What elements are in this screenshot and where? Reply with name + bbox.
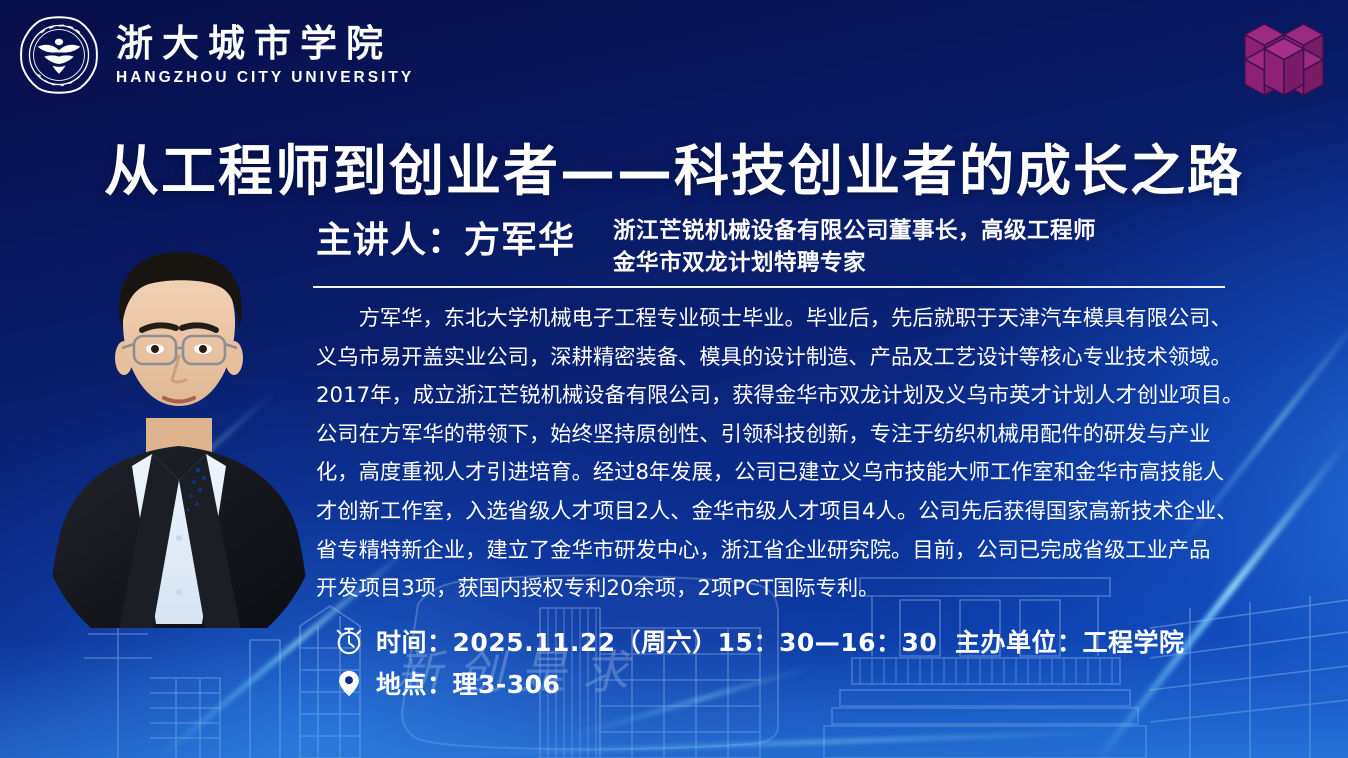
section-divider (313, 286, 1225, 288)
bio-line: 省专精特新企业，建立了金华市研发中心，浙江省企业研究院。目前，公司已完成省级工业… (316, 532, 1244, 571)
bio-line: 公司在方军华的带领下，始终坚持原创性、引领科技创新，专注于纺织机械用配件的研发与… (316, 416, 1244, 455)
event-location-row: 地点：理3-306 (334, 662, 937, 704)
event-time-text: 时间：2025.11.22（周六）15：30—16：30 (376, 623, 937, 659)
university-name-en: HANGZHOU CITY UNIVERSITY (116, 69, 414, 87)
bio-line: 方军华，东北大学机械电子工程专业硕士毕业。毕业后，先后就职于天津汽车模具有限公司… (316, 300, 1244, 339)
bio-line: 化，高度重视人才引进培育。经过8年发展，公司已建立义乌市技能大师工作室和金华市高… (316, 454, 1244, 493)
event-host-text: 主办单位：工程学院 (955, 623, 1185, 659)
poster-title: 从工程师到创业者——科技创业者的成长之路 (0, 126, 1348, 206)
speaker-title-line-1: 浙江芒锐机械设备有限公司董事长，高级工程师 (613, 216, 1096, 248)
university-emblem-icon (18, 14, 100, 96)
bio-line: 义乌市易开盖实业公司，深耕精密装备、模具的设计制造、产品及工艺设计等核心专业技术… (316, 339, 1244, 378)
bio-line: 2017年，成立浙江芒锐机械设备有限公司，获得金华市双龙计划及义乌市英才计划人才… (316, 377, 1244, 416)
speaker-portrait (28, 208, 330, 628)
poster-canvas: 新创是求 (0, 0, 1348, 758)
stopwatch-icon (334, 626, 364, 656)
university-name-cn: 浙大城市学院 (116, 23, 414, 64)
speaker-row: 主讲人：方军华 浙江芒锐机械设备有限公司董事长，高级工程师 金华市双龙计划特聘专… (316, 216, 1246, 280)
university-logo: 浙大城市学院 HANGZHOU CITY UNIVERSITY (18, 14, 414, 96)
bio-line: 开发项目3项，获国内授权专利20余项，2项PCT国际专利。 (316, 570, 1244, 609)
map-pin-icon (334, 668, 364, 698)
speaker-bio: 方军华，东北大学机械电子工程专业硕士毕业。毕业后，先后就职于天津汽车模具有限公司… (316, 300, 1244, 609)
speaker-name: 主讲人：方军华 (316, 216, 575, 263)
university-wordmark: 浙大城市学院 HANGZHOU CITY UNIVERSITY (116, 23, 414, 87)
cube-cluster-logo-icon (1230, 8, 1338, 104)
event-info: 时间：2025.11.22（周六）15：30—16：30 地点：理3-306 (334, 620, 937, 704)
event-time-row: 时间：2025.11.22（周六）15：30—16：30 (334, 620, 937, 662)
light-beam (430, 730, 1130, 757)
speaker-titles: 浙江芒锐机械设备有限公司董事长，高级工程师 金华市双龙计划特聘专家 (613, 216, 1096, 280)
event-location-text: 地点：理3-306 (376, 665, 560, 701)
bio-line: 才创新工作室，入选省级人才项目2人、金华市级人才项目4人。公司先后获得国家高新技… (316, 493, 1244, 532)
speaker-title-line-2: 金华市双龙计划特聘专家 (613, 248, 1096, 280)
